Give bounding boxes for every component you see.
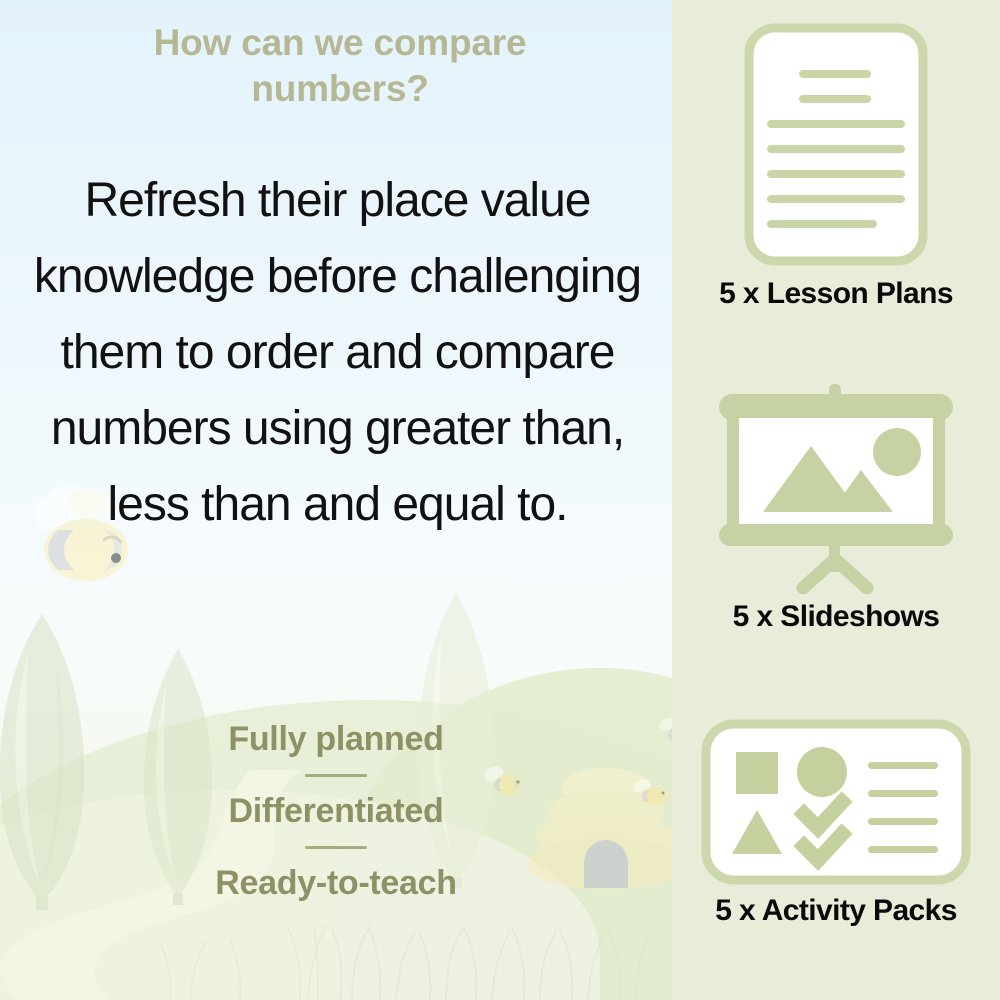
feature-divider	[305, 774, 367, 777]
feature-divider	[305, 846, 367, 849]
product-list-panel: 5 x Lesson Plans	[672, 0, 1000, 1000]
product-item-lesson-plans: 5 x Lesson Plans	[672, 22, 1000, 311]
feature-item-differentiated: Differentiated	[66, 794, 606, 828]
document-icon	[672, 22, 1000, 267]
feature-item-ready-to-teach: Ready-to-teach	[66, 866, 606, 900]
product-item-slideshows: 5 x Slideshows	[672, 384, 1000, 634]
product-label: 5 x Slideshows	[672, 600, 1000, 634]
projector-screen-icon	[672, 384, 1000, 594]
body-description: Refresh their place value knowledge befo…	[10, 163, 665, 543]
bee-icon	[655, 716, 672, 753]
page-title: How can we compare numbers?	[60, 20, 620, 112]
activity-card-icon	[672, 718, 1000, 886]
square-shape-icon	[736, 752, 778, 794]
feature-list: Fully planned Differentiated Ready-to-te…	[66, 722, 606, 900]
product-label: 5 x Activity Packs	[672, 894, 1000, 928]
product-label: 5 x Lesson Plans	[672, 277, 1000, 311]
left-content-panel: How can we compare numbers? Refresh thei…	[0, 0, 672, 1000]
product-item-activity-packs: 5 x Activity Packs	[672, 718, 1000, 928]
circle-shape-icon	[797, 747, 847, 797]
promo-graphic: How can we compare numbers? Refresh thei…	[0, 0, 1000, 1000]
feature-item-fully-planned: Fully planned	[66, 722, 606, 756]
grass-illustration	[0, 900, 672, 1000]
bee-icon	[630, 778, 670, 813]
